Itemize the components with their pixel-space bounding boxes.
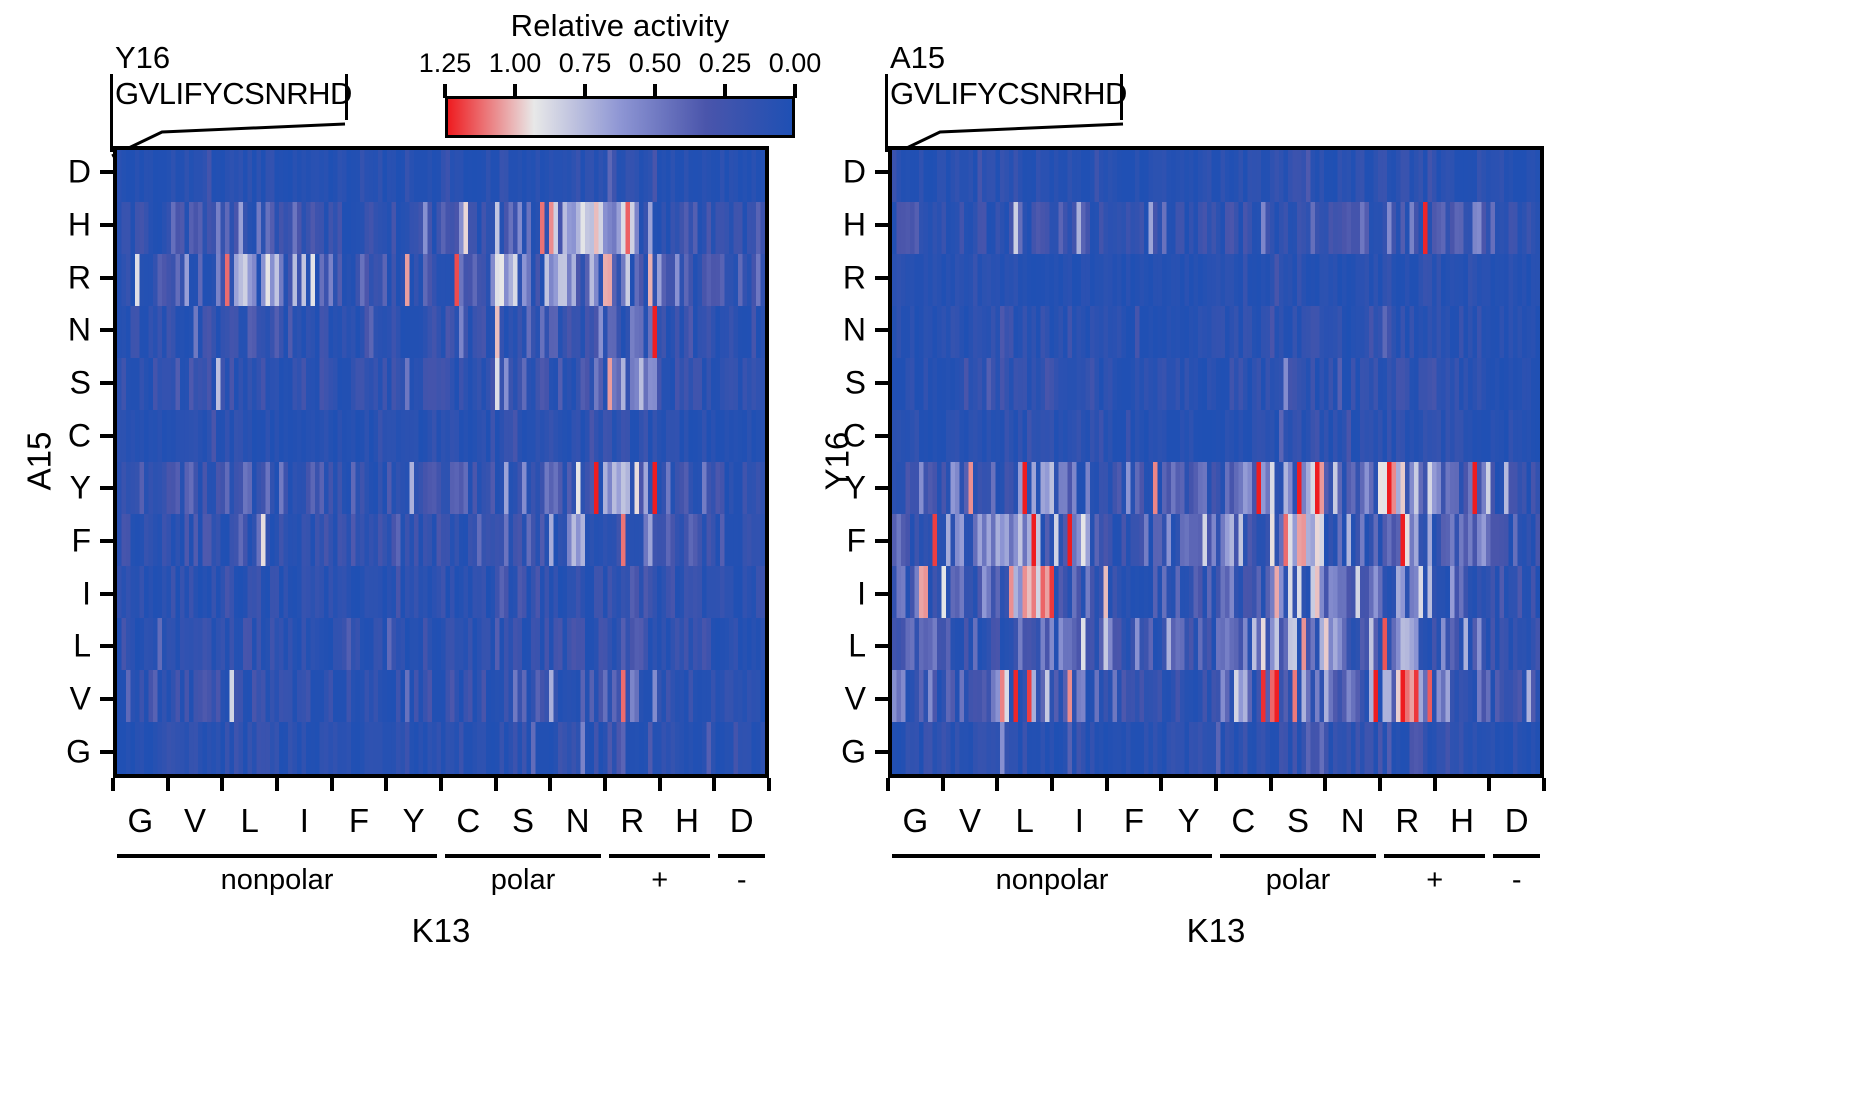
x-axis-tick	[1050, 778, 1054, 791]
x-axis-tick-label: H	[1450, 802, 1474, 840]
x-axis-tick-label: G	[902, 802, 928, 840]
y-axis-tick-label: V	[41, 681, 91, 718]
panel-right-sub-label: A15	[890, 40, 945, 76]
x-group-bracket	[892, 854, 1212, 858]
x-axis-tick	[995, 778, 999, 791]
x-axis-tick	[1323, 778, 1327, 791]
x-group-label: +	[651, 864, 668, 897]
y-axis-tick-label: S	[816, 365, 866, 402]
x-axis-tick-label: G	[127, 802, 153, 840]
x-axis-tick	[166, 778, 170, 791]
y-axis-tick	[100, 381, 113, 385]
x-group-label: -	[737, 864, 747, 897]
x-axis-tick-label: N	[566, 802, 590, 840]
x-group-bracket	[1384, 854, 1485, 858]
y-axis-tick-label: V	[816, 681, 866, 718]
y-axis-tick	[100, 276, 113, 280]
x-axis-tick	[1269, 778, 1273, 791]
x-axis-tick	[384, 778, 388, 791]
y-axis-tick-label: F	[816, 523, 866, 560]
y-axis-tick	[100, 592, 113, 596]
panel-right-x-axis-title: K13	[1187, 912, 1246, 950]
panel-left-seq-bracket-right	[345, 74, 348, 120]
y-axis-tick	[100, 223, 113, 227]
y-axis-tick-label: D	[41, 154, 91, 191]
y-axis-tick	[100, 328, 113, 332]
y-axis-tick-label: F	[41, 523, 91, 560]
x-axis-tick-label: V	[184, 802, 206, 840]
y-axis-tick	[100, 434, 113, 438]
x-axis-tick	[1378, 778, 1382, 791]
panel-right: A15 GVLIFYCSNRHD Y16 DHRNSCYFILVG GVLIFY…	[800, 0, 1870, 1101]
y-axis-tick-label: R	[816, 259, 866, 296]
x-axis-tick-label: F	[1124, 802, 1144, 840]
x-axis-tick-label: D	[1505, 802, 1529, 840]
x-axis-tick	[1159, 778, 1163, 791]
x-axis-tick-label: I	[300, 802, 309, 840]
y-axis-tick	[100, 539, 113, 543]
x-group-bracket	[609, 854, 710, 858]
x-group-bracket	[1220, 854, 1376, 858]
x-axis-tick	[494, 778, 498, 791]
x-axis-tick-label: I	[1075, 802, 1084, 840]
y-axis-tick	[875, 223, 888, 227]
x-axis-tick	[941, 778, 945, 791]
x-axis-tick	[886, 778, 890, 791]
x-axis-tick-label: Y	[1178, 802, 1200, 840]
x-axis-tick-label: C	[1231, 802, 1255, 840]
panel-left-sub-sequence: GVLIFYCSNRHD	[115, 76, 352, 112]
figure-heatmap-pair: Relative activity 1.251.000.750.500.250.…	[0, 0, 1870, 1101]
x-axis-tick	[658, 778, 662, 791]
x-axis-tick	[111, 778, 115, 791]
x-axis-tick-label: C	[456, 802, 480, 840]
y-axis-tick	[875, 434, 888, 438]
x-axis-tick	[712, 778, 716, 791]
x-axis-tick-label: R	[1395, 802, 1419, 840]
panel-left-x-axis-title: K13	[412, 912, 471, 950]
y-axis-tick	[875, 697, 888, 701]
x-group-bracket	[117, 854, 437, 858]
x-axis-tick-label: V	[959, 802, 981, 840]
y-axis-tick	[100, 644, 113, 648]
y-axis-tick	[875, 750, 888, 754]
panel-right-heatmap	[888, 146, 1544, 778]
x-group-bracket	[718, 854, 765, 858]
y-axis-tick	[875, 644, 888, 648]
x-axis-tick	[767, 778, 771, 791]
x-axis-tick-label: S	[512, 802, 534, 840]
y-axis-tick-label: Y	[816, 470, 866, 507]
y-axis-tick	[100, 750, 113, 754]
y-axis-tick-label: N	[816, 312, 866, 349]
y-axis-tick-label: G	[41, 733, 91, 770]
x-group-label: nonpolar	[996, 864, 1109, 897]
x-axis-tick	[439, 778, 443, 791]
x-axis-tick	[603, 778, 607, 791]
y-axis-tick-label: C	[41, 417, 91, 454]
x-axis-tick-label: N	[1341, 802, 1365, 840]
panel-left-sub-label: Y16	[115, 40, 170, 76]
panel-right-seq-bracket-right	[1120, 74, 1123, 120]
y-axis-tick-label: L	[41, 628, 91, 665]
x-axis-tick	[1542, 778, 1546, 791]
x-group-label: nonpolar	[221, 864, 334, 897]
x-group-label: polar	[491, 864, 556, 897]
panel-right-sub-sequence: GVLIFYCSNRHD	[890, 76, 1127, 112]
x-group-label: polar	[1266, 864, 1331, 897]
y-axis-tick-label: Y	[41, 470, 91, 507]
y-axis-tick	[875, 170, 888, 174]
x-axis-tick	[1214, 778, 1218, 791]
y-axis-tick-label: C	[816, 417, 866, 454]
y-axis-tick-label: G	[816, 733, 866, 770]
x-group-bracket	[445, 854, 601, 858]
y-axis-tick-label: R	[41, 259, 91, 296]
x-axis-tick	[275, 778, 279, 791]
y-axis-tick	[875, 328, 888, 332]
x-axis-tick	[330, 778, 334, 791]
y-axis-tick	[100, 170, 113, 174]
x-axis-tick-label: R	[620, 802, 644, 840]
x-axis-tick-label: H	[675, 802, 699, 840]
y-axis-tick-label: D	[816, 154, 866, 191]
y-axis-tick-label: S	[41, 365, 91, 402]
x-axis-tick	[1105, 778, 1109, 791]
x-axis-tick-label: F	[349, 802, 369, 840]
y-axis-tick-label: H	[41, 207, 91, 244]
y-axis-tick	[100, 486, 113, 490]
y-axis-tick	[875, 381, 888, 385]
y-axis-tick	[875, 539, 888, 543]
x-axis-tick-label: D	[730, 802, 754, 840]
panel-left-heatmap	[113, 146, 769, 778]
x-group-label: +	[1426, 864, 1443, 897]
y-axis-tick-label: N	[41, 312, 91, 349]
panel-left: Y16 GVLIFYCSNRHD A15 DHRNSCYFILVG GVLIFY…	[0, 0, 800, 1101]
x-axis-tick	[1487, 778, 1491, 791]
x-axis-tick-label: L	[1015, 802, 1033, 840]
x-group-label: -	[1512, 864, 1522, 897]
y-axis-tick	[875, 276, 888, 280]
x-group-bracket	[1493, 854, 1540, 858]
x-axis-tick-label: S	[1287, 802, 1309, 840]
x-axis-tick-label: L	[240, 802, 258, 840]
y-axis-tick-label: L	[816, 628, 866, 665]
y-axis-tick	[875, 592, 888, 596]
x-axis-tick	[1433, 778, 1437, 791]
x-axis-tick	[548, 778, 552, 791]
x-axis-tick	[220, 778, 224, 791]
x-axis-tick-label: Y	[403, 802, 425, 840]
y-axis-tick	[100, 697, 113, 701]
y-axis-tick-label: I	[41, 575, 91, 612]
y-axis-tick-label: H	[816, 207, 866, 244]
y-axis-tick-label: I	[816, 575, 866, 612]
y-axis-tick	[875, 486, 888, 490]
